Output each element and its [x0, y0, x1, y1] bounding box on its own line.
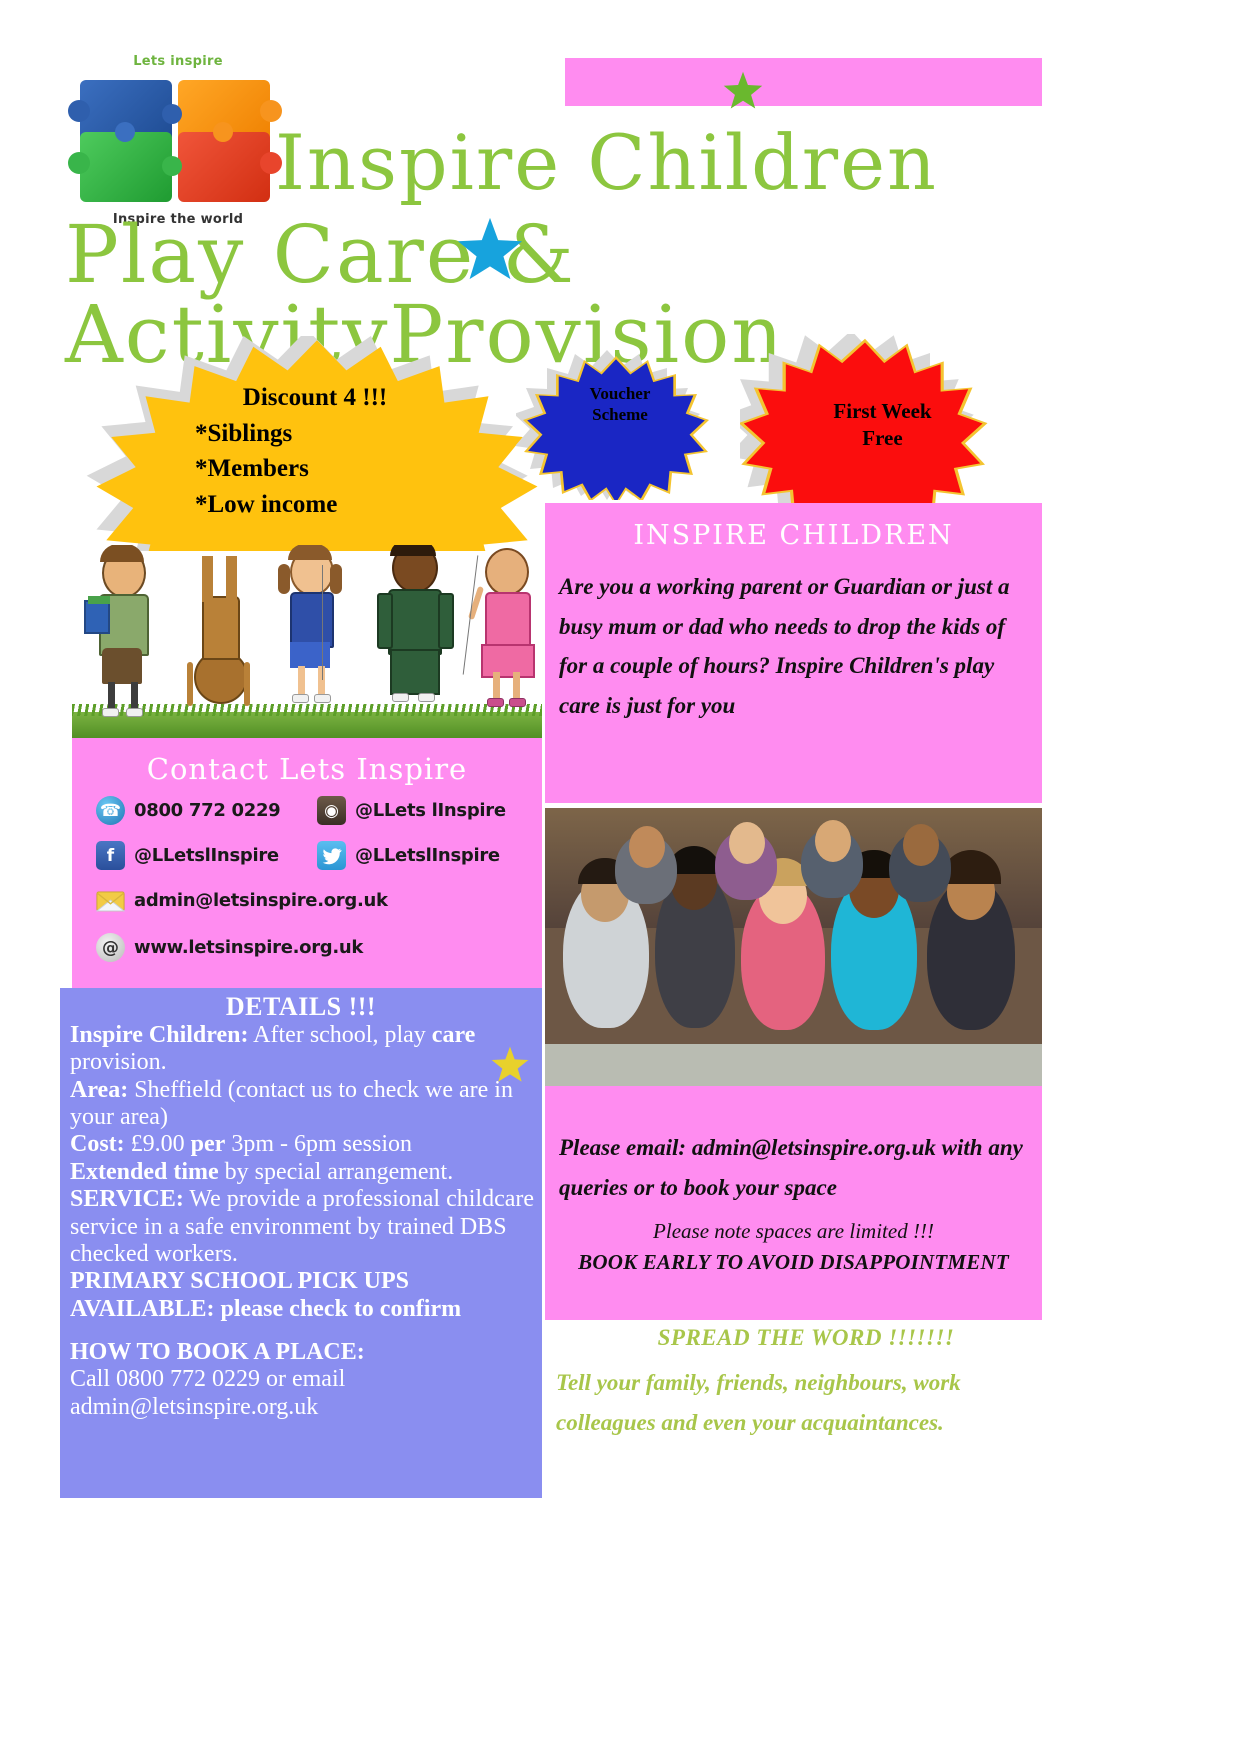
photo-face-back-1 [629, 826, 665, 868]
email-panel: Please email: admin@letsinspire.org.uk w… [545, 1086, 1042, 1320]
title-line-1: Inspire Children [275, 125, 938, 201]
photo-face-back-2 [729, 822, 765, 864]
phone-icon: ☎ [96, 796, 125, 825]
puzzle-nub-mid [162, 104, 182, 124]
facebook-icon: f [96, 841, 125, 870]
kid-1 [86, 548, 158, 718]
contact-row-email[interactable]: admin@letsinspire.org.uk [96, 886, 388, 915]
kite-string-1 [322, 565, 323, 680]
puzzle-nub-top-mid [213, 122, 233, 142]
puzzle-nub-mid-2 [162, 156, 182, 176]
voucher-line-2: Scheme [540, 404, 700, 425]
discount-item-0: *Siblings [150, 416, 480, 452]
photo-face-back-4 [903, 824, 939, 866]
website-icon: @ [96, 933, 125, 962]
details-tail-inspire: provision. [70, 1049, 167, 1075]
logo-top-caption: Lets inspire [78, 54, 278, 69]
details-pickup-line-2: AVAILABLE: please check to confirm [70, 1296, 461, 1322]
email-instruction: Please email: admin@letsinspire.org.uk w… [559, 1128, 1032, 1209]
puzzle-piece-red [178, 132, 270, 202]
header-pink-strip [565, 58, 1042, 106]
details-book-text: Call 0800 772 0229 or email admin@letsin… [70, 1366, 345, 1419]
first-week-line-2: Free [775, 425, 990, 452]
first-week-line-1: First Week [775, 398, 990, 425]
contact-panel: Contact Lets Inspire ☎ 0800 772 0229 ◉ @… [72, 738, 542, 988]
email-address: admin@letsinspire.org.uk [134, 890, 388, 911]
details-panel: DETAILS !!! Inspire Children: After scho… [60, 988, 542, 1498]
star-blue-icon [455, 215, 525, 285]
children-illustration [72, 545, 542, 740]
website-url: www.letsinspire.org.uk [134, 937, 363, 958]
contact-row-website[interactable]: @ www.letsinspire.org.uk [96, 933, 363, 962]
details-label-extended: Extended time [70, 1159, 219, 1185]
intro-heading: INSPIRE CHILDREN [545, 520, 1042, 551]
details-pickup-line-1: PRIMARY SCHOOL PICK UPS [70, 1268, 409, 1294]
discount-title: Discount 4 !!! [150, 380, 480, 416]
spread-body: Tell your family, friends, neighbours, w… [556, 1363, 1056, 1444]
details-text-area: Sheffield (contact us to check we are in… [70, 1077, 513, 1130]
kid-4 [372, 545, 452, 718]
details-text-inspire: After school, play [249, 1022, 432, 1048]
details-label-service: SERVICE: [70, 1186, 184, 1212]
details-book-heading: HOW TO BOOK A PLACE: [70, 1339, 365, 1365]
kid-3-skipping [272, 546, 348, 718]
twitter-icon [317, 841, 346, 870]
burst-red-text: First Week Free [775, 398, 990, 453]
puzzle-nub-left [68, 100, 90, 122]
intro-paragraph: Are you a working parent or Guardian or … [559, 567, 1028, 725]
details-bold-per: per [191, 1131, 226, 1157]
details-spacer [70, 1323, 536, 1339]
puzzle-nub-left-2 [68, 152, 90, 174]
details-bold-care: care [432, 1022, 476, 1048]
contact-row-instagram[interactable]: ◉ @LLets lInspire [317, 796, 506, 825]
details-body: Inspire Children: After school, play car… [60, 1022, 542, 1421]
burst-blue-text: Voucher Scheme [540, 383, 700, 426]
twitter-handle: @LLetslInspire [355, 845, 500, 866]
intro-panel: INSPIRE CHILDREN Are you a working paren… [545, 503, 1042, 803]
star-yellow-icon [490, 1045, 530, 1085]
voucher-line-1: Voucher [540, 383, 700, 404]
email-icon [96, 886, 125, 915]
spread-heading: SPREAD THE WORD !!!!!!! [556, 1325, 1056, 1351]
details-label-cost: Cost: [70, 1131, 125, 1157]
contact-row-phone[interactable]: ☎ 0800 772 0229 [96, 796, 280, 825]
instagram-icon: ◉ [317, 796, 346, 825]
contact-heading: Contact Lets Inspire [72, 752, 542, 786]
facebook-handle: @LLetslInspire [134, 845, 279, 866]
photo-face-back-3 [815, 820, 851, 862]
photo-floor [545, 1044, 1042, 1086]
company-logo: Lets inspire Inspire the world [78, 58, 278, 223]
kid-2-handstand [180, 550, 258, 718]
spaces-limited-note: Please note spaces are limited !!! [545, 1219, 1042, 1244]
details-heading: DETAILS !!! [60, 988, 542, 1022]
spread-the-word-block: SPREAD THE WORD !!!!!!! Tell your family… [556, 1325, 1056, 1444]
details-tail-cost: 3pm - 6pm session [225, 1131, 412, 1157]
puzzle-piece-green [80, 132, 172, 202]
children-group-photo [545, 808, 1042, 1086]
burst-yellow-text: Discount 4 !!! *Siblings *Members *Low i… [150, 380, 480, 522]
book-early-note: BOOK EARLY TO AVOID DISAPPOINTMENT [545, 1250, 1042, 1275]
discount-item-2: *Low income [150, 487, 480, 523]
contact-row-twitter[interactable]: @LLetslInspire [317, 841, 500, 870]
kid-5 [467, 546, 542, 718]
instagram-handle: @LLets lInspire [355, 800, 506, 821]
puzzle-nub-top-left [115, 122, 135, 142]
details-label-area: Area: [70, 1077, 128, 1103]
details-label-inspire: Inspire Children: [70, 1022, 249, 1048]
details-text-cost: £9.00 [125, 1131, 191, 1157]
contact-row-facebook[interactable]: f @LLetslInspire [96, 841, 279, 870]
discount-item-1: *Members [150, 451, 480, 487]
phone-number: 0800 772 0229 [134, 800, 280, 821]
details-text-extended: by special arrangement. [219, 1159, 454, 1185]
star-green-icon [722, 70, 764, 112]
